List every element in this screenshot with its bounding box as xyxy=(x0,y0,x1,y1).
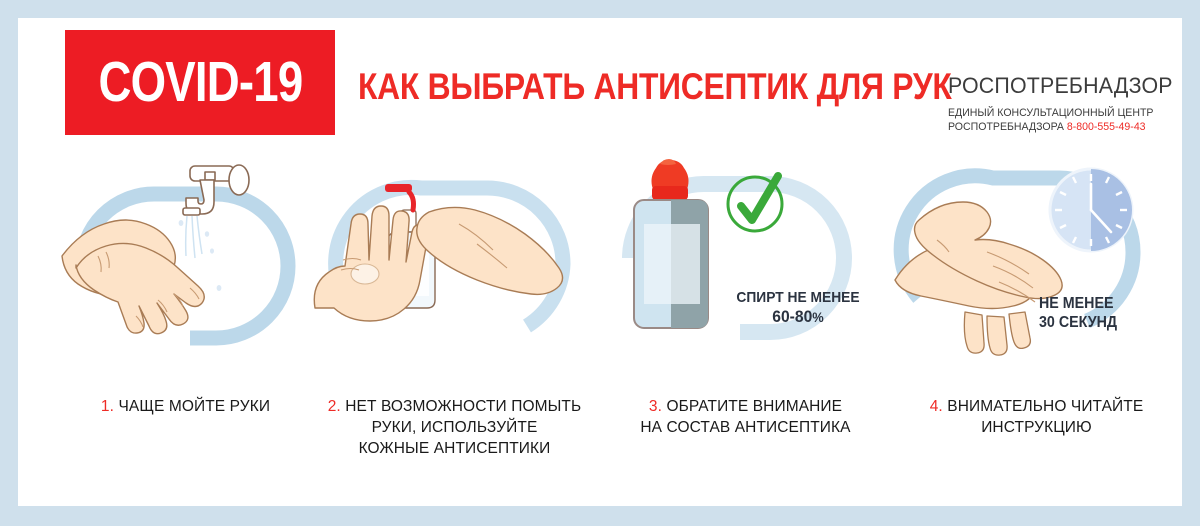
duration-label: НЕ МЕНЕЕ 30 СЕКУНД xyxy=(1033,294,1183,332)
step-caption-4-line2: ИНСТРУКЦИЮ xyxy=(899,417,1174,438)
poster-card: COVID-19 КАК ВЫБРАТЬ АНТИСЕПТИК ДЛЯ РУК … xyxy=(18,18,1182,506)
rubbing-hands-with-clock-icon: НЕ МЕНЕЕ 30 СЕКУНД xyxy=(891,148,1182,358)
step-number-1: 1. xyxy=(101,398,114,415)
clock-icon xyxy=(1050,169,1132,251)
step-caption-3: 3. ОБРАТИТЕ ВНИМАНИЕ НА СОСТАВ АНТИСЕПТИ… xyxy=(608,396,883,438)
step-caption-2-line2: РУКИ, ИСПОЛЬЗУЙТЕ xyxy=(317,417,592,438)
step-caption-3-line1: ОБРАТИТЕ ВНИМАНИЕ xyxy=(666,398,842,415)
org-sub-line2: РОСПОТРЕБНАДЗОРА xyxy=(948,121,1064,133)
org-name: РОСПОТРЕБНАДЗОР xyxy=(948,73,1162,99)
step-caption-2-line1-wrap: 2. НЕТ ВОЗМОЖНОСТИ ПОМЫТЬ xyxy=(317,396,592,417)
page-title: КАК ВЫБРАТЬ АНТИСЕПТИК ДЛЯ РУК xyxy=(358,66,952,108)
bottle-cap xyxy=(652,159,689,200)
step-panel-2: 2. НЕТ ВОЗМОЖНОСТИ ПОМЫТЬ РУКИ, ИСПОЛЬЗУ… xyxy=(309,148,600,506)
org-contact: ЕДИНЫЙ КОНСУЛЬТАЦИОННЫЙ ЦЕНТР РОСПОТРЕБН… xyxy=(948,106,1164,134)
washing-hands-under-faucet-icon xyxy=(40,148,331,358)
antiseptic-bottle-with-checkmark-icon: СПИРТ НЕ МЕНЕЕ 60-80% xyxy=(600,148,891,358)
step-caption-3-line1-wrap: 3. ОБРАТИТЕ ВНИМАНИЕ xyxy=(608,396,883,417)
step-number-3: 3. xyxy=(649,398,662,415)
step-caption-2-line3: КОЖНЫЕ АНТИСЕПТИКИ xyxy=(317,438,592,459)
alcohol-label-value: 60-80% xyxy=(724,307,871,327)
step-caption-3-line2: НА СОСТАВ АНТИСЕПТИКА xyxy=(608,417,883,438)
step-caption-1: 1. ЧАЩЕ МОЙТЕ РУКИ xyxy=(48,396,323,417)
alcohol-label-line1: СПИРТ НЕ МЕНЕЕ xyxy=(724,288,871,307)
step-panel-1: 1. ЧАЩЕ МОЙТЕ РУКИ xyxy=(40,148,331,506)
alcohol-content-label: СПИРТ НЕ МЕНЕЕ 60-80% xyxy=(718,288,878,327)
step-number-2: 2. xyxy=(328,398,341,415)
hand-sanitizer-pump-bottle-icon xyxy=(309,148,600,358)
poster-header: COVID-19 КАК ВЫБРАТЬ АНТИСЕПТИК ДЛЯ РУК … xyxy=(18,18,1182,143)
duration-label-line1: НЕ МЕНЕЕ xyxy=(1039,294,1177,313)
duration-label-value: 30 СЕКУНД xyxy=(1039,313,1177,332)
step-number-4: 4. xyxy=(930,398,943,415)
step-caption-4: 4. ВНИМАТЕЛЬНО ЧИТАЙТЕ ИНСТРУКЦИЮ xyxy=(899,396,1174,438)
step-panel-3: СПИРТ НЕ МЕНЕЕ 60-80% 3. ОБРАТИТЕ ВНИМАН… xyxy=(600,148,891,506)
step-caption-4-line1-wrap: 4. ВНИМАТЕЛЬНО ЧИТАЙТЕ xyxy=(899,396,1174,417)
step-caption-1-line1: ЧАЩЕ МОЙТЕ РУКИ xyxy=(118,398,270,415)
org-sub-line1: ЕДИНЫЙ КОНСУЛЬТАЦИОННЫЙ ЦЕНТР xyxy=(948,107,1153,119)
steps-row: 1. ЧАЩЕ МОЙТЕ РУКИ xyxy=(18,148,1182,506)
covid-19-badge-label: COVID-19 xyxy=(98,54,302,111)
step-caption-4-line1: ВНИМАТЕЛЬНО ЧИТАЙТЕ xyxy=(947,398,1143,415)
step-caption-2: 2. НЕТ ВОЗМОЖНОСТИ ПОМЫТЬ РУКИ, ИСПОЛЬЗУ… xyxy=(317,396,592,459)
step-caption-2-line1: НЕТ ВОЗМОЖНОСТИ ПОМЫТЬ xyxy=(345,398,581,415)
covid-19-badge: COVID-19 xyxy=(65,30,335,135)
rospotrebnadzor-block: РОСПОТРЕБНАДЗОР ЕДИНЫЙ КОНСУЛЬТАЦИОННЫЙ … xyxy=(948,73,1173,134)
step-panel-4: НЕ МЕНЕЕ 30 СЕКУНД 4. ВНИМАТЕЛЬНО ЧИТАЙТ… xyxy=(891,148,1182,506)
org-phone: 8-800-555-49-43 xyxy=(1067,121,1146,133)
